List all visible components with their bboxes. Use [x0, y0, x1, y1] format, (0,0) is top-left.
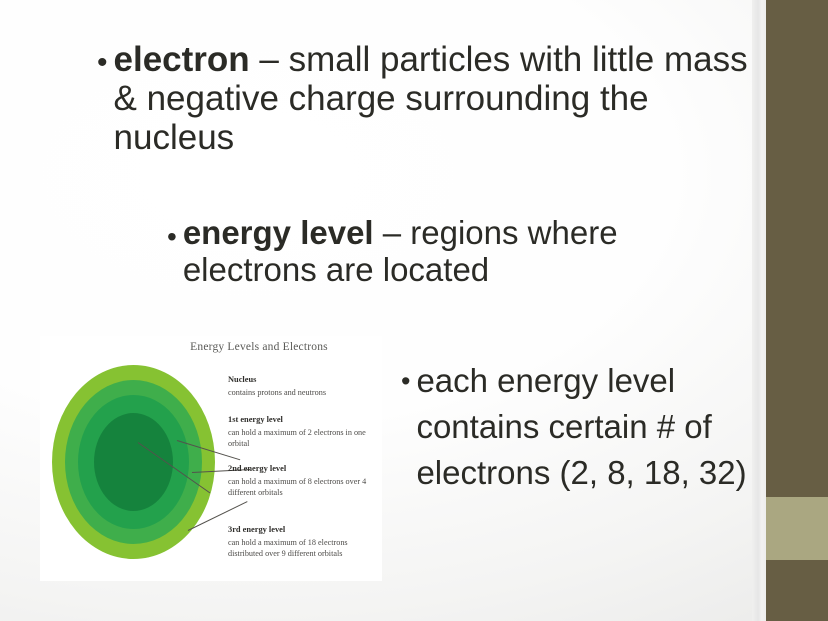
diagram-label-third-level-body: can hold a maximum of 18 electrons distr… — [228, 538, 348, 558]
bullet-dot-icon: • — [167, 215, 177, 251]
bullet-electron-counts-text: each energy level contains certain # of … — [416, 358, 751, 497]
bullet-energy-level-term: energy level — [183, 214, 374, 251]
right-side-band-accent — [766, 497, 828, 560]
diagram-label-first-level: 1st energy level can hold a maximum of 2… — [228, 414, 380, 449]
diagram-label-second-level-body: can hold a maximum of 8 electrons over 4… — [228, 477, 366, 497]
diagram-label-first-level-body: can hold a maximum of 2 electrons in one… — [228, 428, 366, 448]
diagram-label-nucleus: Nucleus contains protons and neutrons — [228, 374, 380, 398]
bullet-energy-level: • energy level – regions where electrons… — [167, 215, 747, 289]
bullet-dot-icon: • — [97, 40, 108, 78]
nucleus-circle — [94, 413, 173, 511]
diagram-label-first-level-heading: 1st energy level — [228, 414, 380, 426]
diagram-label-third-level: 3rd energy level can hold a maximum of 1… — [228, 524, 380, 559]
bullet-electron-term: electron — [114, 40, 250, 79]
diagram-title: Energy Levels and Electrons — [144, 341, 374, 353]
bullet-dot-icon: • — [401, 358, 410, 395]
energy-levels-diagram: Energy Levels and Electrons Nucleus cont… — [40, 336, 382, 581]
bullet-electron-text: electron – small particles with little m… — [114, 40, 757, 158]
bullet-electron-counts: • each energy level contains certain # o… — [401, 358, 751, 497]
diagram-label-third-level-heading: 3rd energy level — [228, 524, 380, 536]
diagram-label-nucleus-heading: Nucleus — [228, 374, 380, 386]
bullet-electron: • electron – small particles with little… — [97, 40, 757, 158]
diagram-label-nucleus-body: contains protons and neutrons — [228, 388, 326, 397]
slide-canvas: • electron – small particles with little… — [0, 0, 828, 621]
diagram-label-second-level-heading: 2nd energy level — [228, 463, 380, 475]
bullet-energy-level-text: energy level – regions where electrons a… — [183, 215, 747, 289]
diagram-label-second-level: 2nd energy level can hold a maximum of 8… — [228, 463, 380, 498]
